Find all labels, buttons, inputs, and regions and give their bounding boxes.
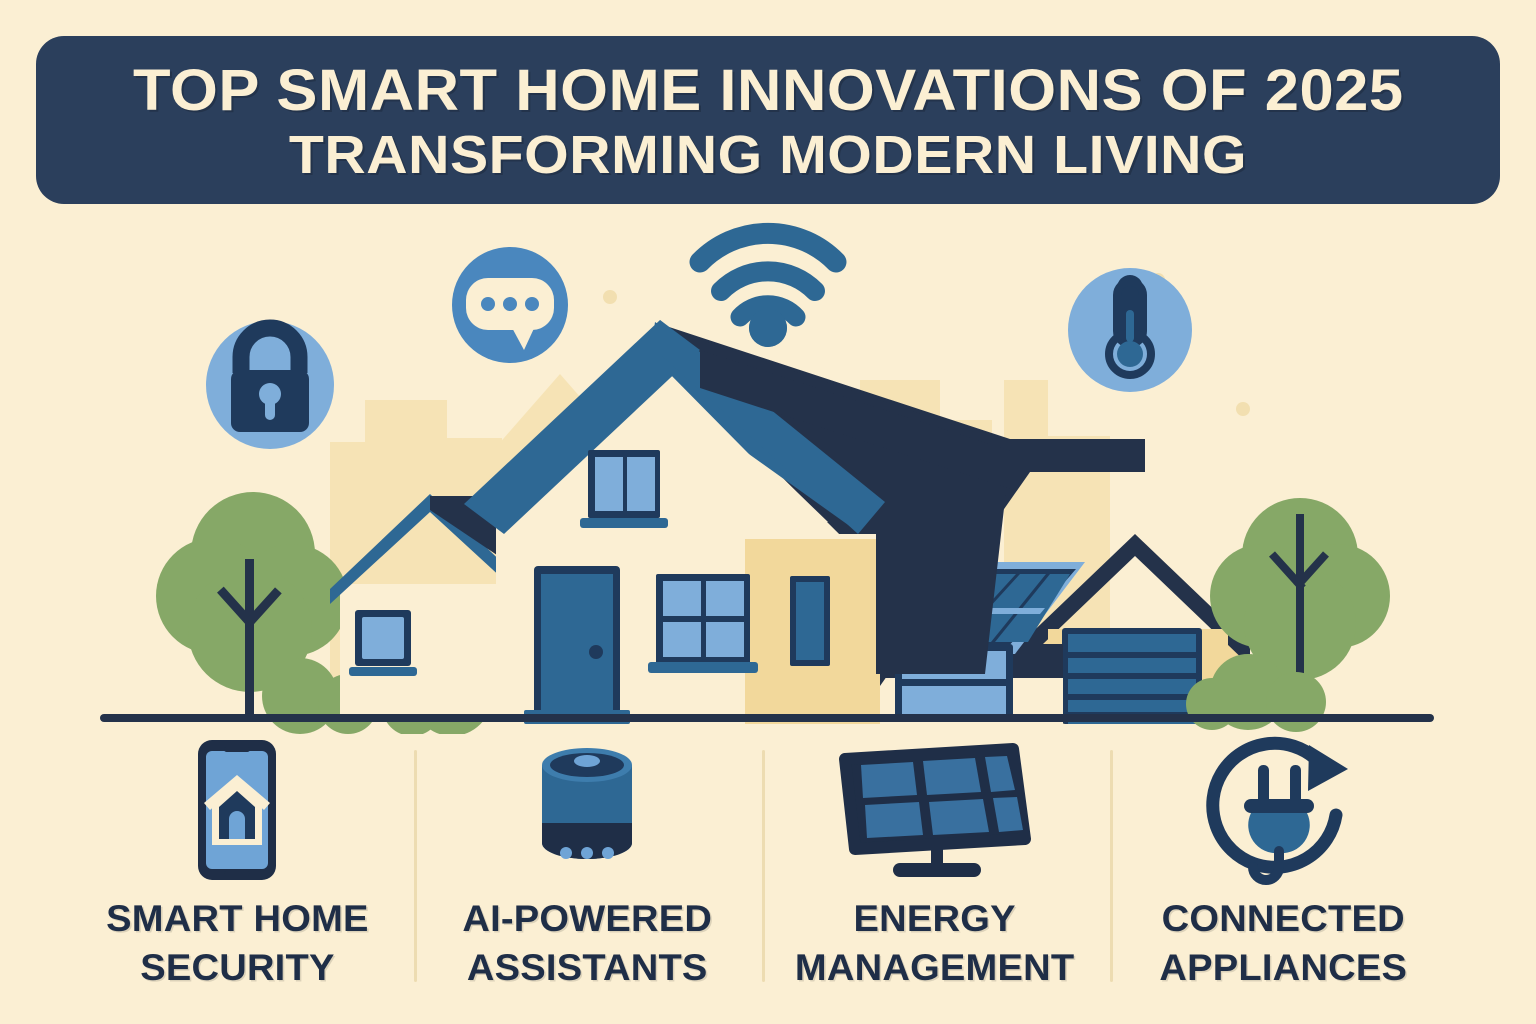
- smart-speaker-icon: [522, 735, 652, 885]
- feature-ai-powered-assistants[interactable]: AI-POWERED ASSISTANTS: [422, 735, 752, 995]
- column-divider: [1110, 750, 1113, 982]
- page-title-line1: TOP SMART HOME INNOVATIONS OF 2025: [133, 61, 1404, 120]
- feature-label-line2: APPLIANCES: [1159, 944, 1407, 993]
- feature-label-line1: SMART HOME: [106, 895, 368, 944]
- feature-energy-management[interactable]: ENERGY MANAGEMENT: [770, 735, 1100, 995]
- decorative-dot: [1236, 402, 1250, 416]
- feature-row: SMART HOME SECURITY AI-POWERED: [0, 735, 1536, 1024]
- smartphone-home-icon: [182, 735, 292, 885]
- feature-label-line2: MANAGEMENT: [795, 944, 1074, 993]
- column-divider: [762, 750, 765, 982]
- feature-connected-appliances[interactable]: CONNECTED APPLIANCES: [1118, 735, 1448, 995]
- ground-line: [100, 714, 1434, 722]
- feature-label: ENERGY MANAGEMENT: [795, 895, 1074, 993]
- column-divider: [414, 750, 417, 982]
- thermometer-icon: [1068, 268, 1192, 392]
- feature-label-line1: ENERGY: [795, 895, 1074, 944]
- feature-label: CONNECTED APPLIANCES: [1159, 895, 1407, 993]
- wifi-icon: [700, 233, 836, 347]
- solar-panel-icon: [835, 735, 1035, 885]
- feature-label-line2: ASSISTANTS: [462, 944, 712, 993]
- feature-label-line2: SECURITY: [106, 944, 368, 993]
- doorknob: [589, 645, 603, 659]
- decorative-dot: [603, 290, 617, 304]
- feature-label-line1: CONNECTED: [1159, 895, 1407, 944]
- page-title-line2: TRANSFORMING MODERN LIVING: [289, 128, 1247, 183]
- title-banner: TOP SMART HOME INNOVATIONS OF 2025 TRANS…: [36, 36, 1500, 204]
- feature-label-line1: AI-POWERED: [462, 895, 712, 944]
- house-illustration: [0, 204, 1536, 734]
- feature-label: AI-POWERED ASSISTANTS: [462, 895, 712, 993]
- infographic-poster: TOP SMART HOME INNOVATIONS OF 2025 TRANS…: [0, 0, 1536, 1024]
- house-main: [464, 309, 1014, 724]
- chat-bubble-icon: [452, 247, 568, 363]
- feature-label: SMART HOME SECURITY: [106, 895, 368, 993]
- lock-icon: [206, 321, 334, 449]
- plug-sync-icon: [1196, 735, 1371, 885]
- feature-smart-home-security[interactable]: SMART HOME SECURITY: [72, 735, 402, 995]
